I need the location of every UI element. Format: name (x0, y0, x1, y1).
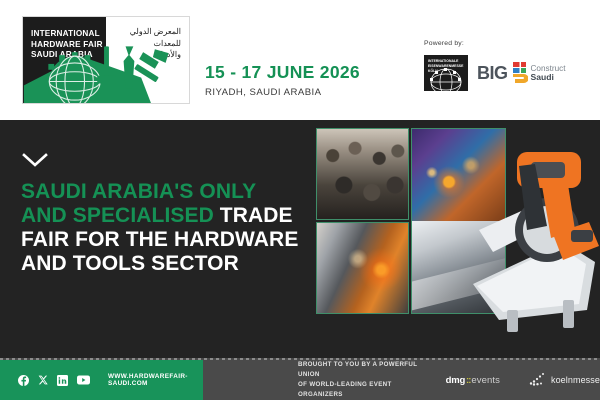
powered-by-label: Powered by: (424, 40, 566, 47)
footer-green-panel: WWW.HARDWAREFAIR-SAUDI.COM (0, 360, 203, 400)
collage-image-trade-show-crowd (316, 128, 409, 220)
eisenwarenmesse-globe-icon (424, 55, 468, 91)
eisenwarenmesse-logo: INTERNATIONALE EISENWARENMESSE KÖLN (424, 55, 468, 91)
big5-number-icon (511, 62, 528, 84)
footer: WWW.HARDWAREFAIR-SAUDI.COM BROUGHT TO YO… (0, 358, 600, 400)
collage-image-metal-grinding-sparks (316, 222, 409, 314)
dmg-events-logo: dmg :: events (446, 375, 500, 386)
koelnmesse-dots-icon (528, 372, 548, 388)
koelnmesse-logo: koelnmesse (528, 372, 600, 388)
event-date: 15 - 17 JUNE 2026 (205, 62, 360, 83)
facebook-icon[interactable] (18, 375, 29, 386)
promotional-banner: INTERNATIONAL HARDWARE FAIR SAUDI ARABIA… (0, 0, 600, 400)
hero-section: SAUDI ARABIA'S ONLY AND SPECIALISED TRAD… (0, 120, 600, 358)
powered-by-block: Powered by: INTERNATIONALE EISENWARENMES… (424, 40, 566, 91)
event-location: RIYADH, SAUDI ARABIA (205, 87, 360, 98)
dmg-events-logo-events: events (471, 375, 500, 386)
big5-construct-saudi-logo: BIG Construct Saudi (477, 62, 566, 84)
website-url[interactable]: WWW.HARDWAREFAIR-SAUDI.COM (108, 373, 203, 387)
event-date-block: 15 - 17 JUNE 2026 RIYADH, SAUDI ARABIA (205, 62, 360, 98)
organizers-tagline: BROUGHT TO YOU BY A POWERFUL UNION OF WO… (298, 360, 418, 400)
hero-headline: SAUDI ARABIA'S ONLY AND SPECIALISED TRAD… (21, 180, 306, 276)
header: INTERNATIONAL HARDWARE FAIR SAUDI ARABIA… (0, 0, 600, 120)
chevron-down-icon (22, 152, 48, 168)
x-twitter-icon[interactable] (38, 375, 48, 385)
orange-miter-saw-image (455, 134, 600, 334)
social-links (18, 375, 90, 386)
linkedin-icon[interactable] (57, 375, 68, 386)
big5-saudi-label: Saudi (531, 73, 566, 82)
koelnmesse-wordmark: koelnmesse (551, 375, 600, 385)
globe-gear-tools-icon (23, 17, 189, 103)
dmg-events-logo-dmg: dmg (446, 375, 465, 386)
big5-word: BIG (477, 63, 508, 84)
image-collage (305, 126, 600, 358)
youtube-icon[interactable] (77, 375, 90, 385)
footer-gray-panel: BROUGHT TO YOU BY A POWERFUL UNION OF WO… (203, 360, 600, 400)
fair-logo: INTERNATIONAL HARDWARE FAIR SAUDI ARABIA… (22, 16, 190, 104)
